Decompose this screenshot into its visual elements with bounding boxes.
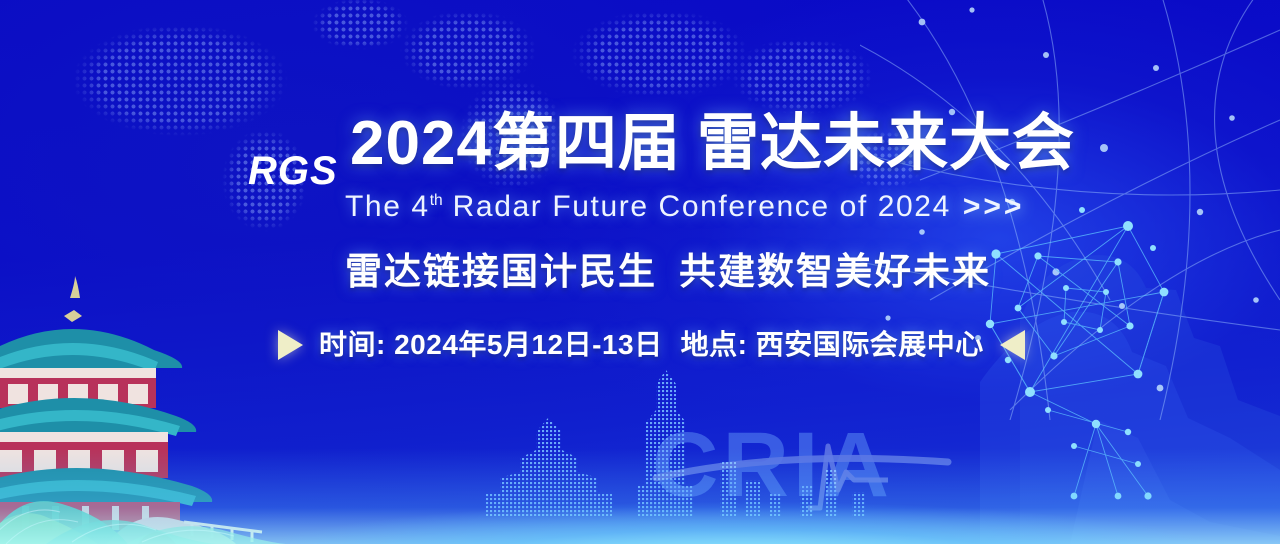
title-english-rest: Radar Future Conference of 2024 <box>443 190 951 223</box>
page-title: 2024第四届雷达未来大会 <box>350 113 1075 175</box>
date-value: 2024年5月12日-13日 <box>394 329 662 360</box>
title-english: The 4th Radar Future Conference of 2024>… <box>345 192 1024 222</box>
event-info-text: 时间: 2024年5月12日-13日地点: 西安国际会展中心 <box>319 331 984 359</box>
conference-banner: CRIA <box>0 0 1280 544</box>
event-info-bar: 时间: 2024年5月12日-13日地点: 西安国际会展中心 <box>278 330 1025 360</box>
title-english-ordinal: th <box>430 192 443 209</box>
title-name: 雷达未来大会 <box>697 109 1075 178</box>
date-label: 时间: <box>319 329 386 360</box>
tagline: 雷达链接国计民生共建数智美好未来 <box>345 253 991 290</box>
play-triangle-left-icon <box>1000 330 1025 360</box>
banner-content: RGS 2024第四届雷达未来大会 The 4th Radar Future C… <box>0 0 1280 544</box>
venue-label: 地点: <box>681 329 748 360</box>
venue-value: 西安国际会展中心 <box>756 329 984 360</box>
play-triangle-right-icon <box>278 330 303 360</box>
title-year: 2024 <box>350 109 492 178</box>
title-english-prefix: The 4 <box>345 190 430 223</box>
rgs-logo: RGS <box>196 118 342 216</box>
title-edition: 第四届 <box>492 109 681 178</box>
chevrons-icon: >>> <box>963 190 1025 223</box>
tagline-right: 共建数智美好未来 <box>679 251 991 292</box>
rgs-logo-text: RGS <box>248 149 338 193</box>
tagline-left: 雷达链接国计民生 <box>345 251 657 292</box>
